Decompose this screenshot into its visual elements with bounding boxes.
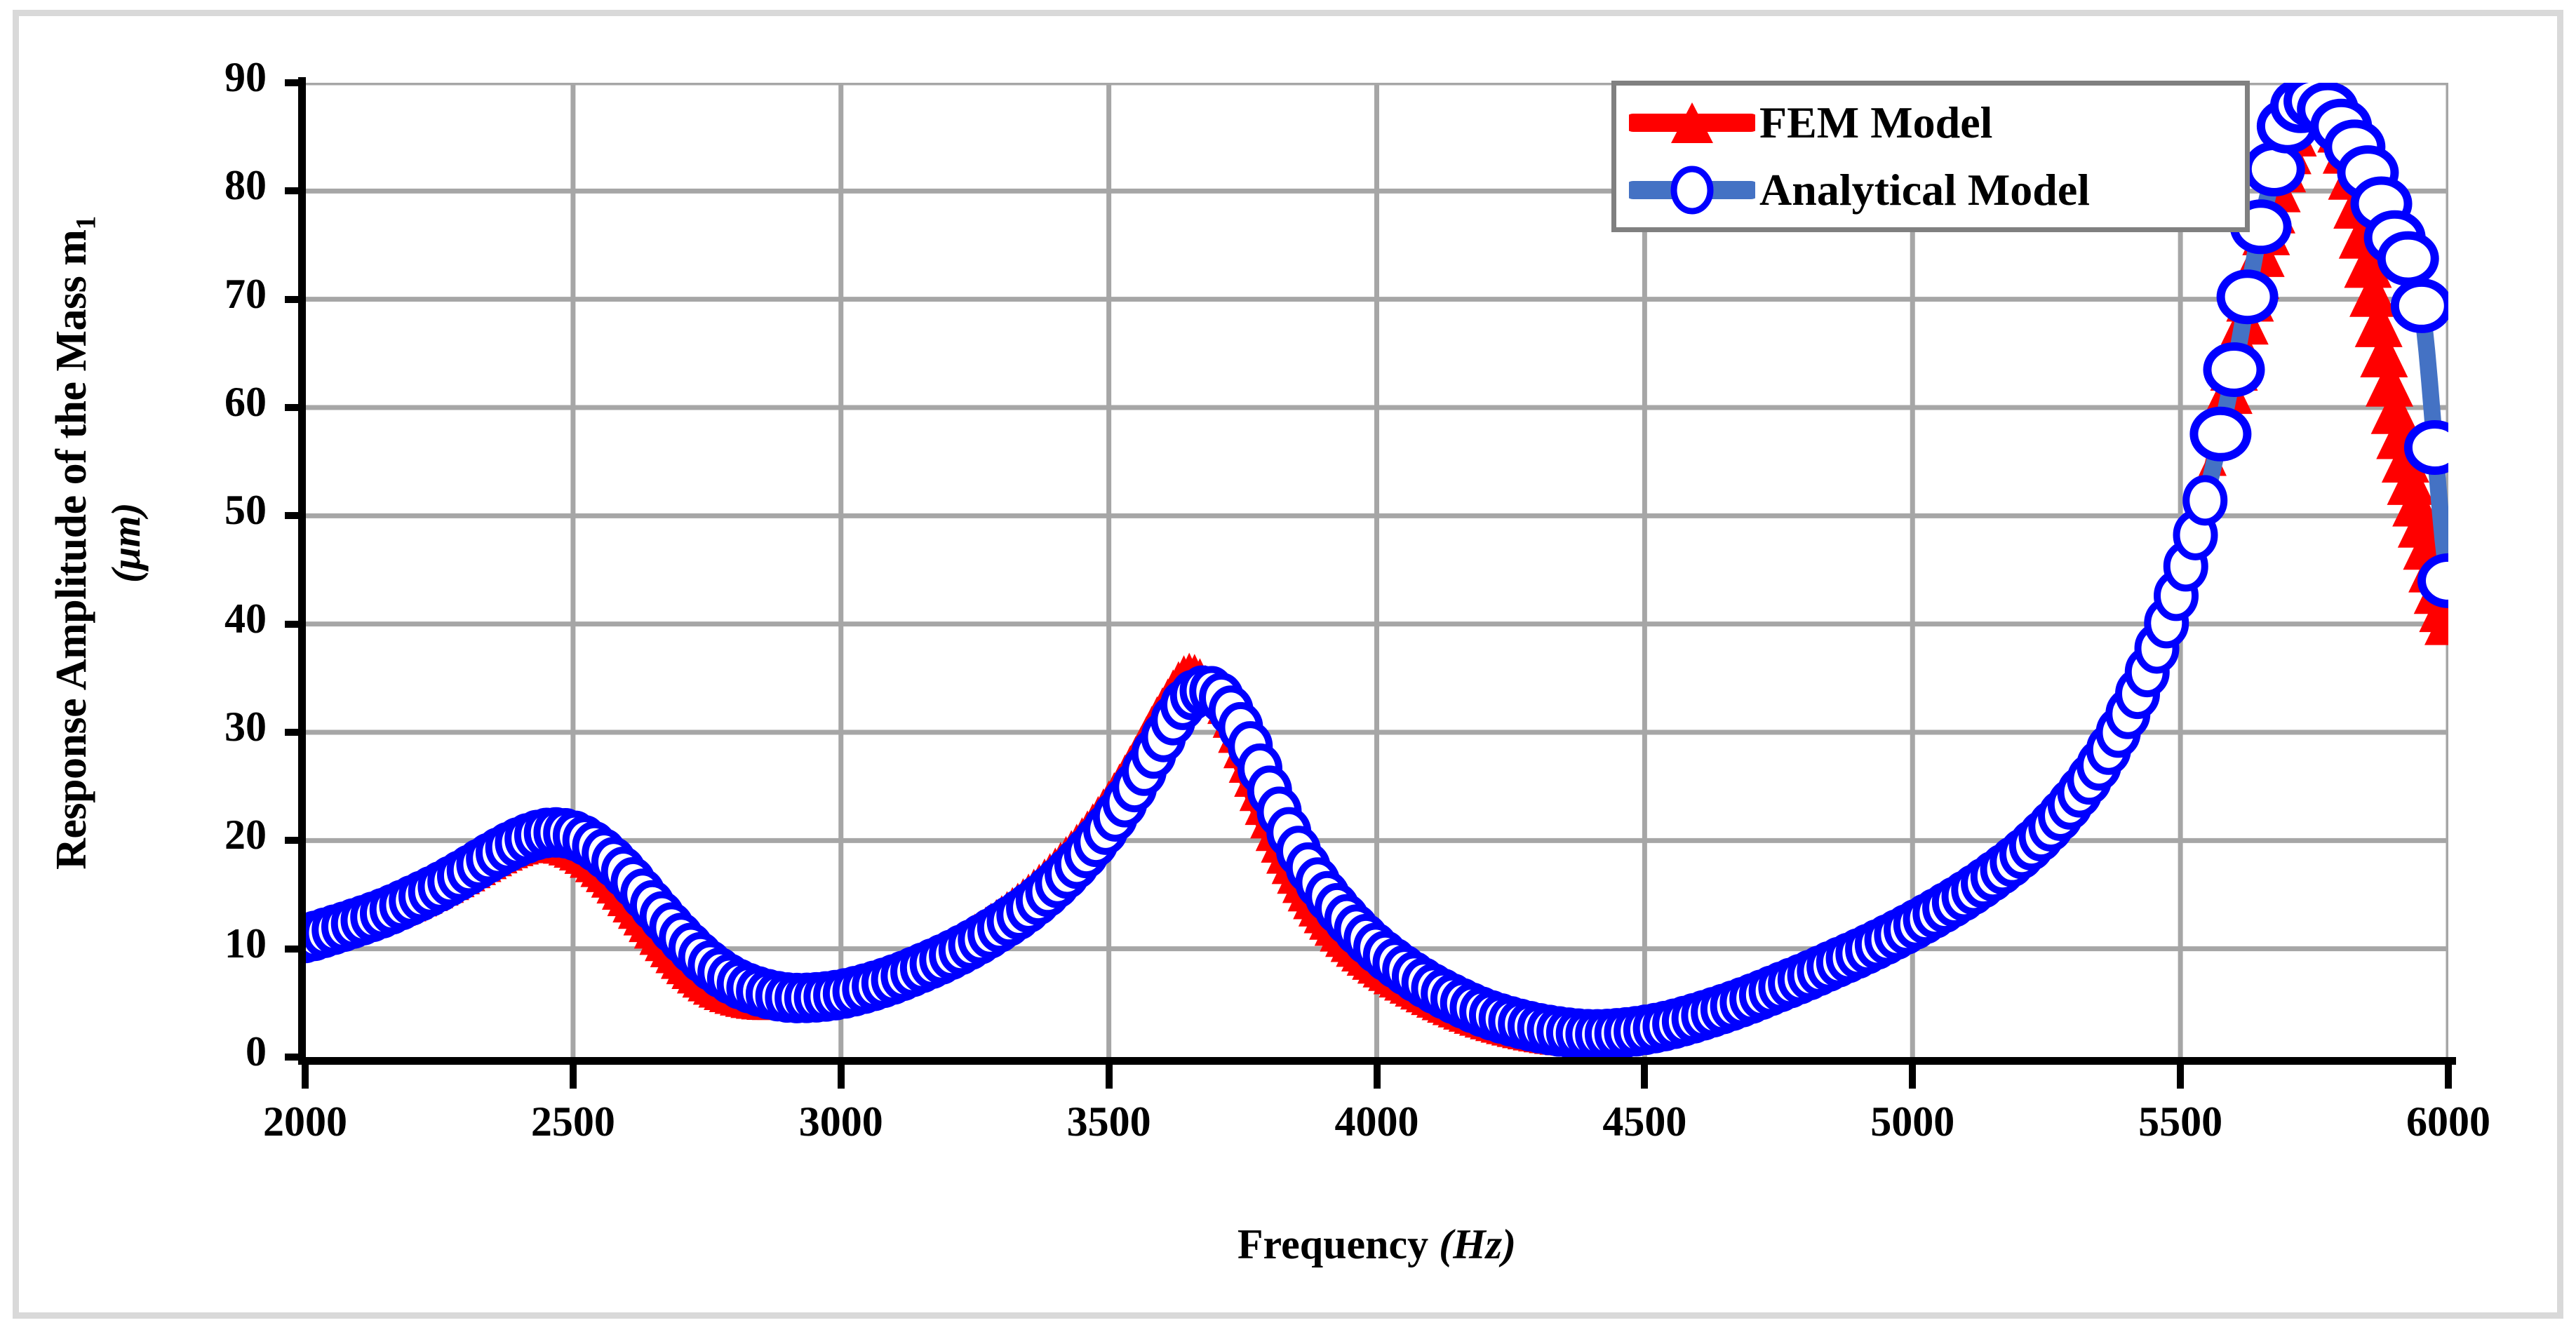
y-axis-tick [285,404,299,411]
x-axis-tick-label: 3500 [1004,1098,1214,1146]
legend-item-analytical: Analytical Model [1629,156,2245,224]
x-axis-tick [1106,1065,1113,1089]
marker-circle [2208,347,2261,393]
chart-figure: Response Amplitude of the Mass m1 (μm) F… [0,0,2576,1332]
chart-legend: FEM Model Analytical Model [1611,81,2250,232]
y-axis-tick-label: 20 [126,811,267,859]
marker-circle [2395,283,2448,329]
x-axis-tick-label: 4500 [1539,1098,1750,1146]
x-axis-tick [2445,1065,2452,1089]
y-axis-title-text: Response Amplitude of the Mass m [48,230,95,870]
x-axis-tick [570,1065,577,1089]
x-axis-tick [302,1065,309,1089]
x-axis-title-text: Frequency [1237,1221,1439,1267]
x-axis-tick [838,1065,845,1089]
marker-circle [2422,558,2448,604]
y-axis-tick-label: 0 [126,1028,267,1076]
x-axis-tick-label: 5500 [2075,1098,2286,1146]
x-axis-tick-label: 2000 [200,1098,410,1146]
y-axis-tick-label: 40 [126,595,267,643]
legend-key-triangle-icon [1629,98,1755,147]
y-axis-tick-label: 90 [126,53,267,102]
x-axis-tick [1374,1065,1381,1089]
y-axis-tick [285,187,299,194]
x-axis-tick-label: 6000 [2343,1098,2554,1146]
y-axis-tick [285,296,299,303]
y-axis-tick-label: 10 [126,920,267,968]
y-axis-tick [285,1054,299,1061]
x-axis-tick-label: 5000 [1807,1098,2018,1146]
y-axis-tick [285,621,299,628]
y-axis-tick-label: 50 [126,486,267,534]
x-axis-tick-label: 3000 [736,1098,946,1146]
y-axis-tick [285,729,299,736]
x-axis-title: Frequency (Hz) [305,1220,2448,1269]
y-axis-line [298,77,306,1063]
x-axis-tick [2177,1065,2184,1089]
x-axis-tick [1641,1065,1648,1089]
y-axis-tick [285,946,299,953]
marker-circle [2194,411,2247,457]
x-axis-tick [1909,1065,1916,1089]
y-axis-title-subscript: 1 [69,216,101,230]
y-axis-tick-label: 70 [126,270,267,318]
y-axis-tick [285,837,299,844]
x-axis-tick-label: 2500 [468,1098,678,1146]
y-axis-tick [285,512,299,519]
legend-key-circle-icon [1629,166,1755,215]
x-axis-tick-label: 4000 [1272,1098,1482,1146]
y-axis-tick [285,79,299,86]
y-axis-tick-label: 30 [126,703,267,751]
x-axis-line [298,1057,2456,1065]
x-axis-title-unit: (Hz) [1439,1221,1516,1267]
legend-label-fem: FEM Model [1759,100,1992,145]
marker-circle [2221,274,2274,320]
y-axis-tick-label: 80 [126,161,267,210]
legend-item-fem: FEM Model [1629,89,2245,156]
marker-circle [2408,424,2448,471]
marker-circle [2186,478,2224,522]
marker-circle [2382,236,2435,282]
legend-label-analytical: Analytical Model [1759,168,2090,213]
y-axis-tick-label: 60 [126,378,267,426]
